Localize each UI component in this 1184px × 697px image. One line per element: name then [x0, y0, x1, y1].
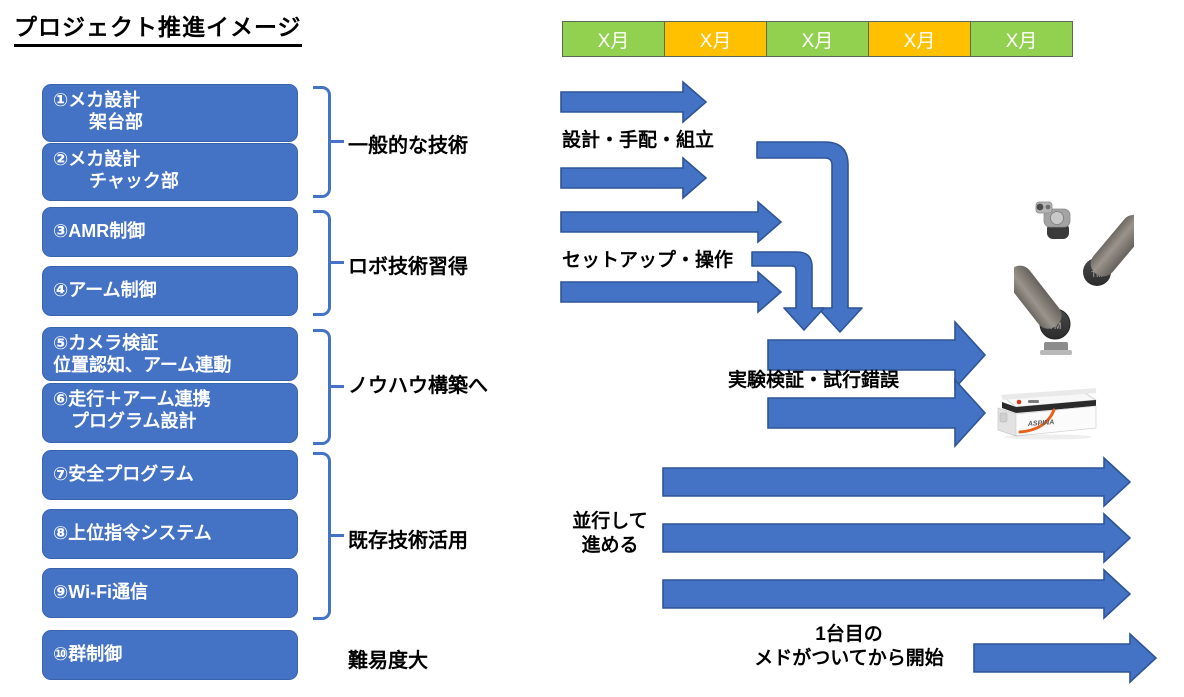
task-box-7[interactable]: ⑦安全プログラム — [42, 450, 298, 500]
group-label-3: ノウハウ構築へ — [348, 369, 488, 398]
task-box-6-line1: ⑥走行＋アーム連携 — [53, 389, 211, 409]
group-label-1: 一般的な技術 — [348, 129, 468, 158]
task-box-8-line1: ⑧上位指令システム — [53, 523, 212, 545]
diagram-canvas: プロジェクト推進イメージ X月X月X月X月X月 ①メカ設計 架台部②メカ設計 チ… — [0, 0, 1184, 697]
elbow-connector-design — [757, 142, 862, 332]
elbow-connector-setup — [752, 252, 824, 330]
task-box-6[interactable]: ⑥走行＋アーム連携 プログラム設計 — [42, 383, 298, 443]
group-label-4: 既存技術活用 — [348, 524, 468, 553]
note-parallel: 並行して 進める — [562, 510, 658, 558]
task-box-3[interactable]: ③AMR制御 — [42, 207, 298, 257]
group-bracket-stub-4 — [328, 534, 344, 537]
note-setup: セットアップ・操作 — [562, 249, 733, 273]
timeline-cell-2: X月 — [664, 21, 767, 57]
note-experiment: 実験検証・試行錯誤 — [728, 369, 899, 393]
task-box-1-line2: 架台部 — [53, 112, 297, 134]
task-box-8[interactable]: ⑧上位指令システム — [42, 509, 298, 559]
task-box-5[interactable]: ⑤カメラ検証位置認知、アーム連動 — [42, 327, 298, 381]
timeline-cell-3: X月 — [766, 21, 869, 57]
arrow-parallel-1 — [663, 458, 1130, 506]
arrow-design-bottom — [561, 158, 706, 198]
task-box-3-line1: ③AMR制御 — [53, 221, 145, 243]
task-box-9[interactable]: ⑨Wi-Fi通信 — [42, 568, 298, 618]
task-box-1-line1: ①メカ設計 — [53, 90, 140, 110]
arrow-design-top — [561, 82, 706, 122]
group-label-5: 難易度大 — [348, 644, 428, 673]
task-box-6-line2: プログラム設計 — [53, 411, 297, 433]
note-design: 設計・手配・組立 — [562, 129, 714, 153]
timeline-cell-4: X月 — [868, 21, 971, 57]
timeline-cell-5: X月 — [970, 21, 1073, 57]
arrow-setup-top — [561, 202, 781, 242]
task-box-9-line1: ⑨Wi-Fi通信 — [53, 582, 148, 604]
group-bracket-stub-1 — [328, 140, 344, 143]
arrow-second-unit — [974, 634, 1156, 682]
page-title: プロジェクト推進イメージ — [14, 8, 302, 47]
arrow-parallel-3 — [663, 570, 1130, 618]
task-box-1[interactable]: ①メカ設計 架台部 — [42, 84, 298, 142]
task-box-10-line1: ⑩群制御 — [53, 644, 122, 666]
group-label-2: ロボ技術習得 — [348, 250, 468, 279]
note-second-unit: 1台目の メドがついてから開始 — [718, 623, 980, 671]
group-bracket-stub-3 — [328, 385, 344, 388]
group-bracket-stub-2 — [328, 261, 344, 264]
task-box-7-line1: ⑦安全プログラム — [53, 464, 194, 486]
task-box-10[interactable]: ⑩群制御 — [42, 630, 298, 680]
robot-arm-image: TM TM — [1014, 196, 1134, 361]
timeline-cell-1: X月 — [562, 21, 665, 57]
timeline-header: X月X月X月X月X月 — [562, 21, 1073, 57]
arrow-setup-bottom — [561, 272, 781, 312]
task-box-5-line2: 位置認知、アーム連動 — [53, 355, 297, 377]
task-box-2[interactable]: ②メカ設計 チャック部 — [42, 143, 298, 201]
amr-robot-image: ASPINA — [984, 376, 1104, 444]
task-box-2-line1: ②メカ設計 — [53, 149, 140, 169]
arrow-parallel-2 — [663, 514, 1130, 562]
task-box-4[interactable]: ④アーム制御 — [42, 266, 298, 316]
task-box-5-line1: ⑤カメラ検証 — [53, 333, 158, 353]
task-box-2-line2: チャック部 — [53, 171, 297, 193]
task-box-4-line1: ④アーム制御 — [53, 280, 157, 302]
